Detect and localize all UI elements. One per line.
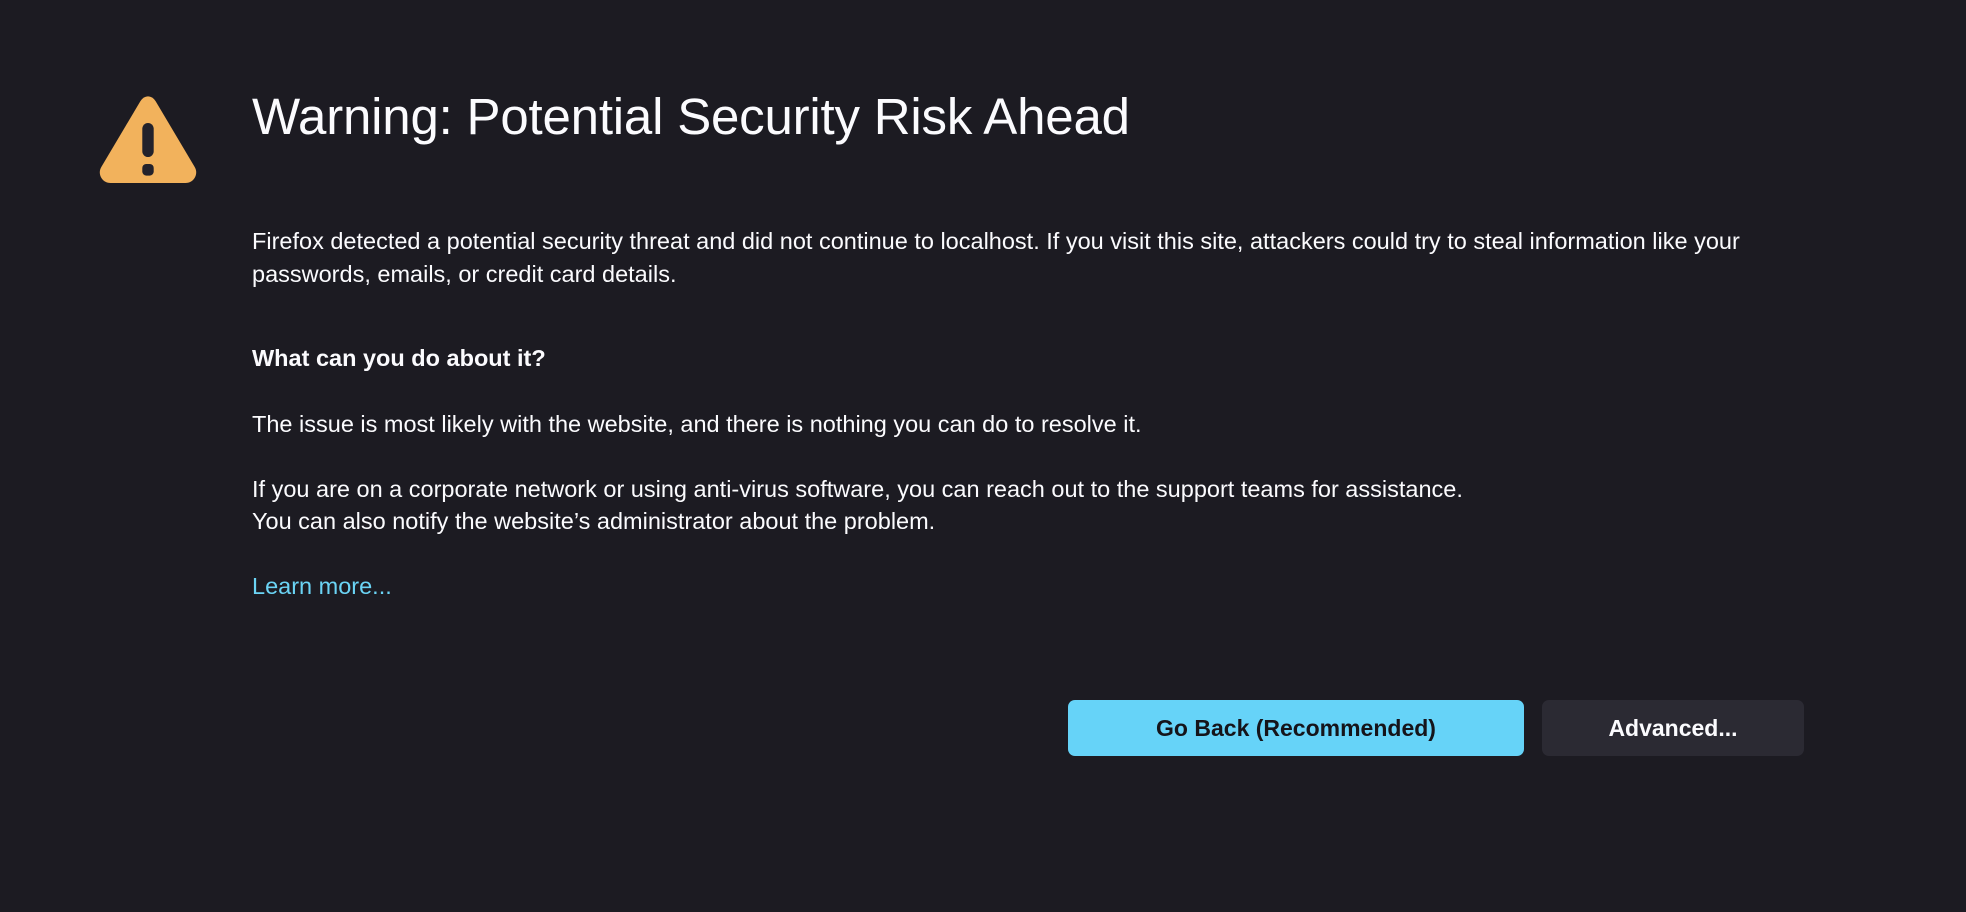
warning-triangle-icon (98, 95, 198, 185)
intro-paragraph: Firefox detected a potential security th… (252, 225, 1800, 290)
page-title: Warning: Potential Security Risk Ahead (252, 86, 1800, 147)
corporate-network-paragraph: If you are on a corporate network or usi… (252, 473, 1502, 538)
subheading-what-can-you-do: What can you do about it? (252, 342, 1800, 374)
button-row: Go Back (Recommended) Advanced... (252, 700, 1804, 756)
resolve-paragraph: The issue is most likely with the websit… (252, 408, 1800, 440)
security-warning-page: Warning: Potential Security Risk Ahead F… (0, 0, 1966, 912)
warning-content: Warning: Potential Security Risk Ahead F… (252, 86, 1800, 602)
learn-more-link[interactable]: Learn more... (252, 570, 392, 602)
advanced-button[interactable]: Advanced... (1542, 700, 1804, 756)
go-back-button[interactable]: Go Back (Recommended) (1068, 700, 1524, 756)
